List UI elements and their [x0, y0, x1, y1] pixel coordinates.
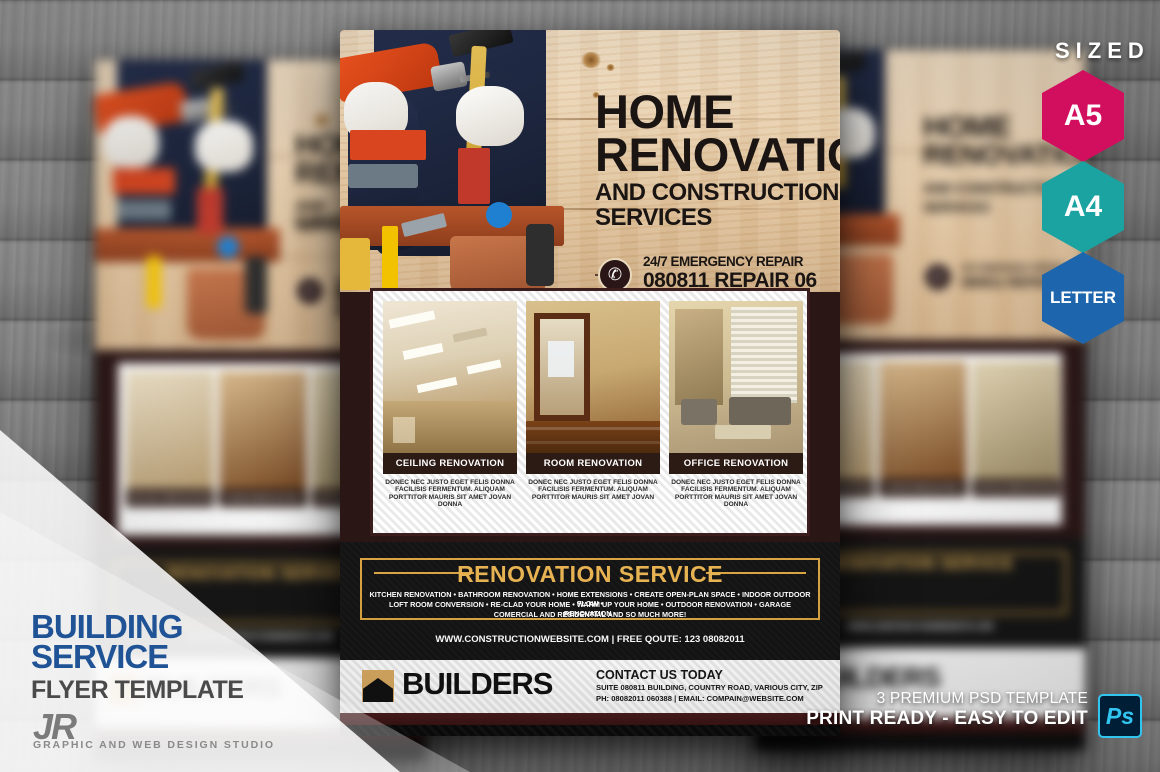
psd-badge-line2: PRINT READY - EASY TO EDIT	[768, 708, 1088, 730]
psd-badge-text: 3 PREMIUM PSD TEMPLATE PRINT READY - EAS…	[768, 690, 1088, 730]
mockup-stage: HOME RENOVATION AND CONSTRUCTION SERVICE…	[0, 0, 1160, 772]
size-badge-a5-label: A5	[1064, 99, 1102, 133]
size-badge-a4-hex: A4	[1042, 161, 1124, 253]
size-badge-a5[interactable]: A5	[1042, 70, 1124, 162]
size-badge-letter[interactable]: LETTER	[1042, 252, 1124, 344]
size-badge-a5-hex: A5	[1042, 70, 1124, 162]
photoshop-icon-label: Ps	[1106, 703, 1134, 730]
sized-label: SIZED	[1055, 38, 1150, 64]
psd-badge-line1: 3 PREMIUM PSD TEMPLATE	[768, 690, 1088, 708]
brand-line3: FLYER TEMPLATE	[31, 676, 243, 705]
size-badge-a4[interactable]: A4	[1042, 161, 1124, 253]
size-badge-a4-label: A4	[1064, 190, 1102, 224]
brand-block: BUILDING SERVICE FLYER TEMPLATE	[31, 612, 243, 705]
brand-line2: SERVICE	[31, 642, 243, 672]
size-badge-letter-label: LETTER	[1050, 288, 1116, 308]
studio-tagline: GRAPHIC AND WEB DESIGN STUDIO	[33, 739, 275, 751]
size-badge-letter-hex: LETTER	[1042, 252, 1124, 344]
photoshop-icon: Ps	[1098, 694, 1142, 738]
